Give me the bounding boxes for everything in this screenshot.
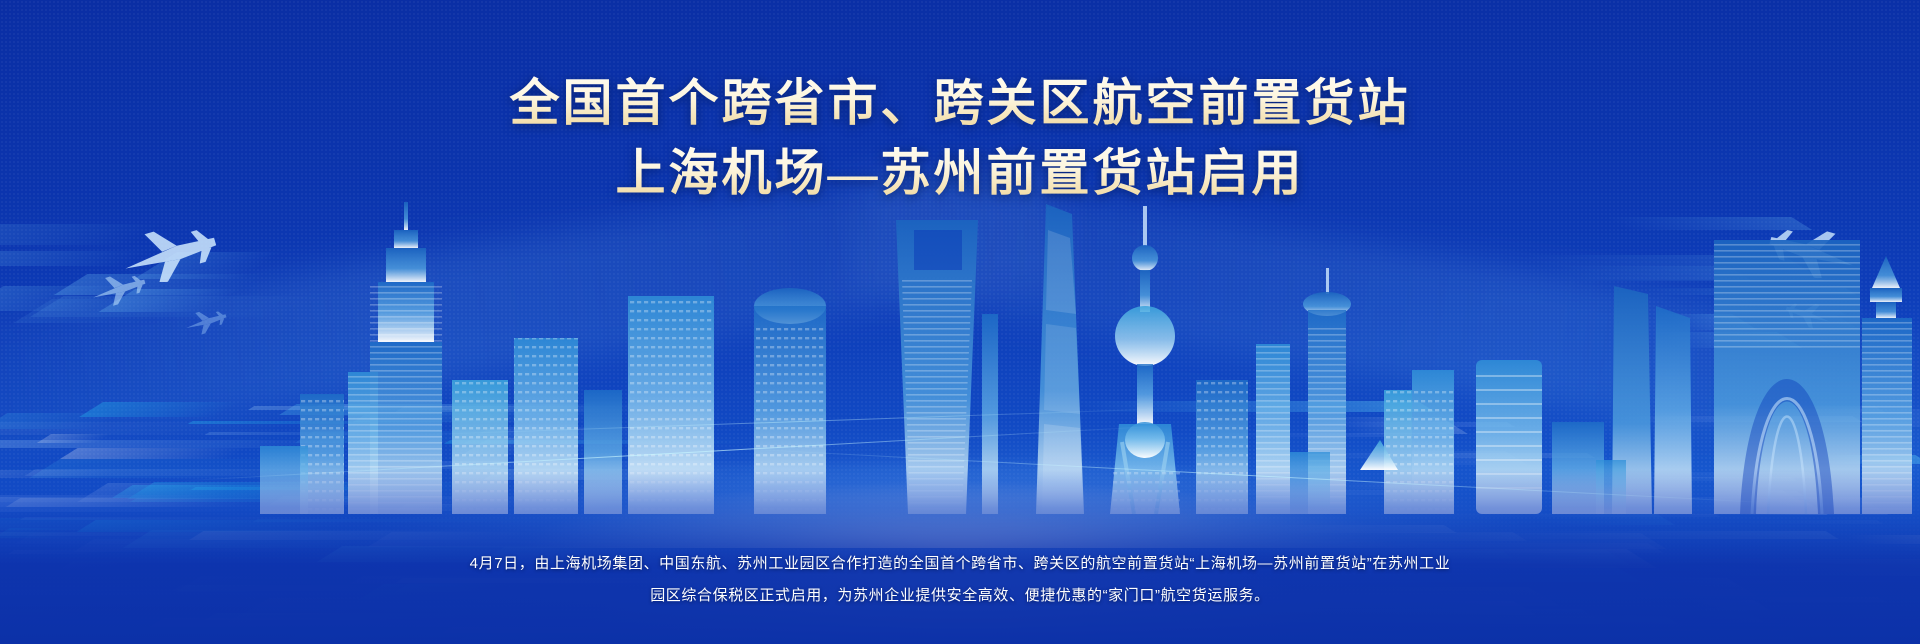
banner-title: 全国首个跨省市、跨关区航空前置货站 上海机场—苏州前置货站启用 (0, 68, 1920, 208)
title-line-1: 全国首个跨省市、跨关区航空前置货站 (0, 68, 1920, 138)
banner-caption: 4月7日，由上海机场集团、中国东航、苏州工业园区合作打造的全国首个跨省市、跨关区… (0, 548, 1920, 612)
caption-line-2: 园区综合保税区正式启用，为苏州企业提供安全高效、便捷优惠的“家门口”航空货运服务… (0, 580, 1920, 612)
caption-line-1: 4月7日，由上海机场集团、中国东航、苏州工业园区合作打造的全国首个跨省市、跨关区… (0, 548, 1920, 580)
promo-banner: 全国首个跨省市、跨关区航空前置货站 上海机场—苏州前置货站启用 4月7日，由上海… (0, 0, 1920, 644)
shanghai-suzhou-skyline (0, 184, 1920, 514)
title-line-2: 上海机场—苏州前置货站启用 (0, 138, 1920, 208)
